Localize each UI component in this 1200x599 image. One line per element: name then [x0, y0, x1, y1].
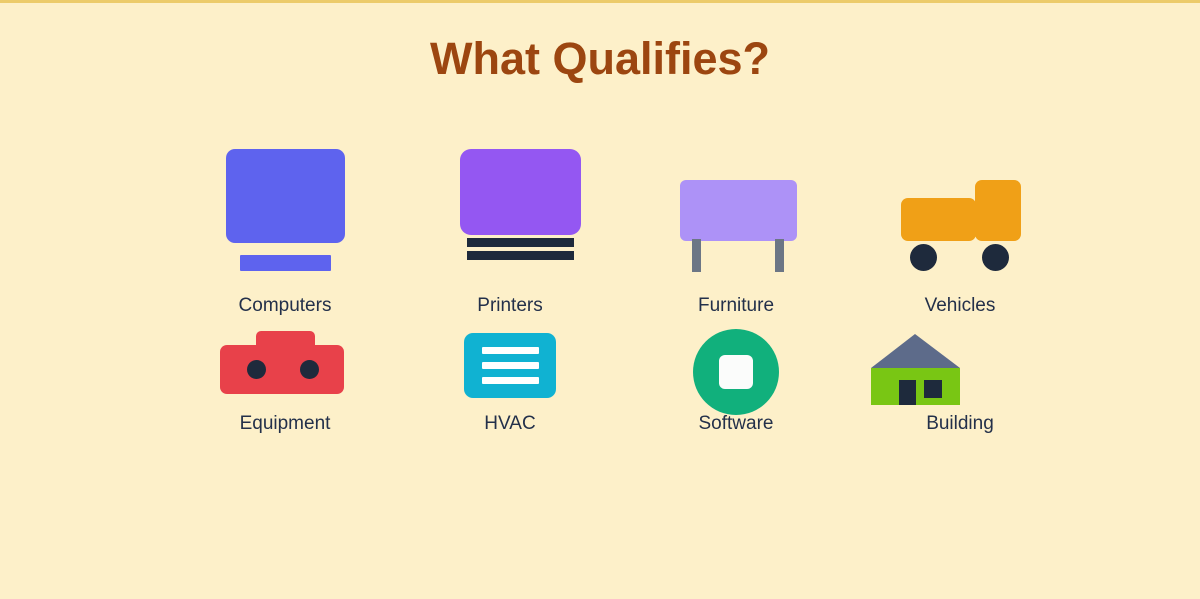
- toolbox-body-shape: [220, 345, 344, 394]
- toolbox-latch-left: [247, 360, 266, 379]
- category-item-vehicles[interactable]: Vehicles: [860, 145, 1060, 317]
- house-icon: [860, 325, 1060, 413]
- table-leg-left: [692, 239, 701, 272]
- category-item-furniture[interactable]: Furniture: [636, 145, 836, 317]
- vent-icon: [410, 325, 610, 413]
- toolbox-handle-shape: [256, 331, 315, 346]
- vent-slat-2: [482, 362, 539, 369]
- house-door-shape: [899, 380, 916, 405]
- vent-slat-3: [482, 377, 539, 384]
- category-label: Equipment: [185, 413, 385, 435]
- disc-center-shape: [719, 355, 753, 389]
- category-item-printers[interactable]: Printers: [410, 145, 610, 317]
- category-label: Computers: [185, 295, 385, 317]
- table-icon: [636, 145, 836, 295]
- slide-canvas: What Qualifies? Computers Printers Furni…: [0, 0, 1200, 599]
- house-roof-shape: [871, 334, 960, 368]
- table-top-shape: [680, 180, 797, 241]
- printer-paper-bar-2: [467, 251, 574, 260]
- truck-cab-shape: [975, 180, 1021, 241]
- truck-wheel-right: [982, 244, 1009, 271]
- printer-paper-bar-1: [467, 238, 574, 247]
- toolbox-latch-right: [300, 360, 319, 379]
- disc-icon: [636, 325, 836, 413]
- category-label: Furniture: [636, 295, 836, 317]
- truck-icon: [860, 145, 1060, 295]
- category-label: HVAC: [410, 413, 610, 435]
- monitor-stand-shape: [240, 255, 331, 271]
- truck-wheel-left: [910, 244, 937, 271]
- category-item-computers[interactable]: Computers: [185, 145, 385, 317]
- table-leg-right: [775, 239, 784, 272]
- category-item-hvac[interactable]: HVAC: [410, 325, 610, 435]
- house-window-shape: [924, 380, 942, 398]
- category-item-equipment[interactable]: Equipment: [185, 325, 385, 435]
- top-accent-stripe: [0, 0, 1200, 3]
- page-title: What Qualifies?: [0, 33, 1200, 85]
- monitor-icon: [185, 145, 385, 295]
- monitor-screen-shape: [226, 149, 345, 243]
- category-label: Building: [860, 413, 1060, 435]
- toolbox-icon: [185, 325, 385, 413]
- category-item-building[interactable]: Building: [860, 325, 1060, 435]
- printer-icon: [410, 145, 610, 295]
- category-item-software[interactable]: Software: [636, 325, 836, 435]
- category-label: Printers: [410, 295, 610, 317]
- truck-cargo-shape: [901, 198, 976, 241]
- printer-body-shape: [460, 149, 581, 235]
- vent-slat-1: [482, 347, 539, 354]
- category-label: Vehicles: [860, 295, 1060, 317]
- category-label: Software: [636, 413, 836, 435]
